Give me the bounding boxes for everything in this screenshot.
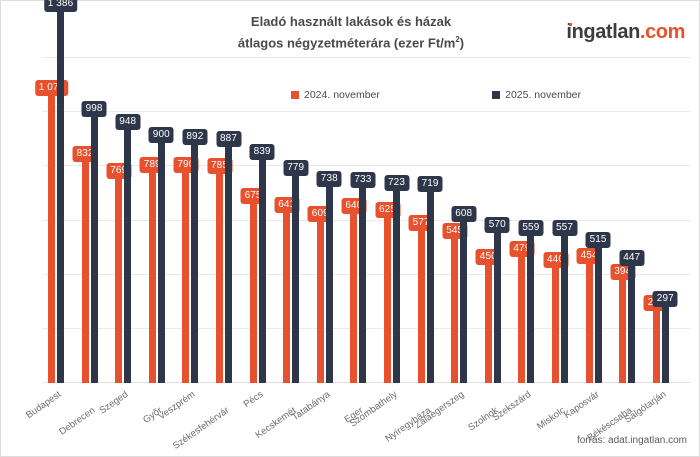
- bar-group[interactable]: 545608Zalaegerszeg: [451, 58, 468, 383]
- bar-value-label: 900: [149, 127, 174, 143]
- bar-group[interactable]: 1 0731 386Budapest: [48, 58, 65, 383]
- bar-2024[interactable]: [82, 158, 89, 383]
- bar-2025[interactable]: [191, 141, 198, 383]
- bar-value-label: 998: [82, 101, 107, 117]
- bar-2025[interactable]: [91, 113, 98, 383]
- bar-2024[interactable]: [283, 209, 290, 383]
- chart-plot-area: 02004006008001 0001 200 1 0731 386Budape…: [43, 58, 691, 383]
- bar-group[interactable]: 440557Miskolc: [552, 58, 569, 383]
- bar-2024[interactable]: [48, 92, 55, 383]
- bar-2024[interactable]: [485, 261, 492, 383]
- bar-group[interactable]: 625723Szombathely: [384, 58, 401, 383]
- bar-group[interactable]: 479559Szekszárd: [518, 58, 535, 383]
- bar-group[interactable]: 450570Szolnok: [485, 58, 502, 383]
- bar-2024[interactable]: [115, 175, 122, 383]
- bar-2024[interactable]: [216, 170, 223, 383]
- bar-2024[interactable]: [350, 210, 357, 383]
- title-line-2-close: ): [460, 35, 464, 50]
- bar-2024[interactable]: [418, 227, 425, 383]
- ingatlan-logo[interactable]: ingatlan.com: [566, 21, 685, 44]
- bar-2025[interactable]: [158, 139, 165, 383]
- bar-group[interactable]: 280297Salgótarján: [653, 58, 670, 383]
- bar-2025[interactable]: [527, 232, 534, 383]
- x-axis-label-text: Debrecen: [57, 405, 97, 438]
- title-line-2-text: átlagos négyzetméterára (ezer Ft/m: [238, 35, 455, 50]
- bar-2025[interactable]: [359, 184, 366, 383]
- bar-2025[interactable]: [57, 8, 64, 383]
- bar-2025[interactable]: [628, 262, 635, 383]
- bar-value-label: 839: [250, 144, 275, 160]
- bar-2024[interactable]: [182, 169, 189, 383]
- bar-group[interactable]: 640733Eger: [350, 58, 367, 383]
- bar-2024[interactable]: [586, 260, 593, 383]
- logo-tld: .com: [640, 21, 685, 43]
- bar-2024[interactable]: [149, 169, 156, 383]
- bar-2025[interactable]: [662, 303, 669, 383]
- bar-value-label: 557: [552, 220, 577, 236]
- bar-value-label: 297: [653, 291, 678, 307]
- bar-value-label: 887: [216, 131, 241, 147]
- bar-value-label: 779: [283, 160, 308, 176]
- bar-2024[interactable]: [384, 214, 391, 383]
- bar-value-label: 1 386: [44, 0, 78, 12]
- bar-value-label: 719: [418, 176, 443, 192]
- bar-value-label: 608: [451, 206, 476, 222]
- bar-group[interactable]: 832998Debrecen: [82, 58, 99, 383]
- bar-value-label: 948: [115, 114, 140, 130]
- bar-2025[interactable]: [561, 232, 568, 383]
- title-line-1: Eladó használt lakások és házak: [151, 13, 551, 31]
- bar-group[interactable]: 454515Kaposvár: [586, 58, 603, 383]
- bar-group[interactable]: 769948Szeged: [115, 58, 132, 383]
- bar-group[interactable]: 394447Békéscsaba: [619, 58, 636, 383]
- bar-value-label: 559: [518, 220, 543, 236]
- bar-2024[interactable]: [518, 253, 525, 383]
- bar-value-label: 447: [619, 250, 644, 266]
- x-axis-label-text: Kecskemét: [254, 405, 299, 441]
- bar-value-label: 570: [485, 217, 510, 233]
- bar-group[interactable]: 790892Veszprém: [182, 58, 199, 383]
- bar-2025[interactable]: [494, 229, 501, 383]
- logo-accent-dot: [569, 23, 572, 26]
- bar-2025[interactable]: [124, 126, 131, 383]
- source-note: forrás: adat.ingatlan.com: [577, 435, 687, 446]
- bar-2025[interactable]: [292, 172, 299, 383]
- bar-group[interactable]: 675839Pécs: [250, 58, 267, 383]
- bar-2024[interactable]: [653, 307, 660, 383]
- bar-group[interactable]: 577719Nyíregyháza: [418, 58, 435, 383]
- bar-group[interactable]: 609738Tatabánya: [317, 58, 334, 383]
- bar-2025[interactable]: [460, 218, 467, 383]
- logo-word-mark: ingatlan: [566, 21, 639, 43]
- page-title: Eladó használt lakások és házak átlagos …: [151, 13, 551, 52]
- bar-2025[interactable]: [259, 156, 266, 383]
- bar-2025[interactable]: [326, 183, 333, 383]
- bar-group[interactable]: 789900Győr: [149, 58, 166, 383]
- bar-group[interactable]: 785887Székesfehérvár: [216, 58, 233, 383]
- bar-2024[interactable]: [619, 276, 626, 383]
- bar-2025[interactable]: [595, 244, 602, 383]
- x-axis-label-text: Székesfehérvár: [171, 405, 231, 452]
- x-axis-label-text: Miskolc: [535, 405, 567, 432]
- bar-group[interactable]: 641779Kecskemét: [283, 58, 300, 383]
- bar-2025[interactable]: [393, 187, 400, 383]
- bar-value-label: 723: [384, 175, 409, 191]
- title-line-2: átlagos négyzetméterára (ezer Ft/m2): [151, 31, 551, 52]
- bar-value-label: 892: [182, 129, 207, 145]
- bar-2024[interactable]: [451, 235, 458, 383]
- bar-2025[interactable]: [427, 188, 434, 383]
- bar-value-label: 738: [317, 171, 342, 187]
- bar-2024[interactable]: [552, 264, 559, 383]
- bar-2025[interactable]: [225, 143, 232, 383]
- bar-value-label: 733: [350, 172, 375, 188]
- bar-2024[interactable]: [250, 200, 257, 383]
- bar-2024[interactable]: [317, 218, 324, 383]
- bar-value-label: 515: [586, 232, 611, 248]
- x-axis-label-text: Budapest: [24, 389, 63, 421]
